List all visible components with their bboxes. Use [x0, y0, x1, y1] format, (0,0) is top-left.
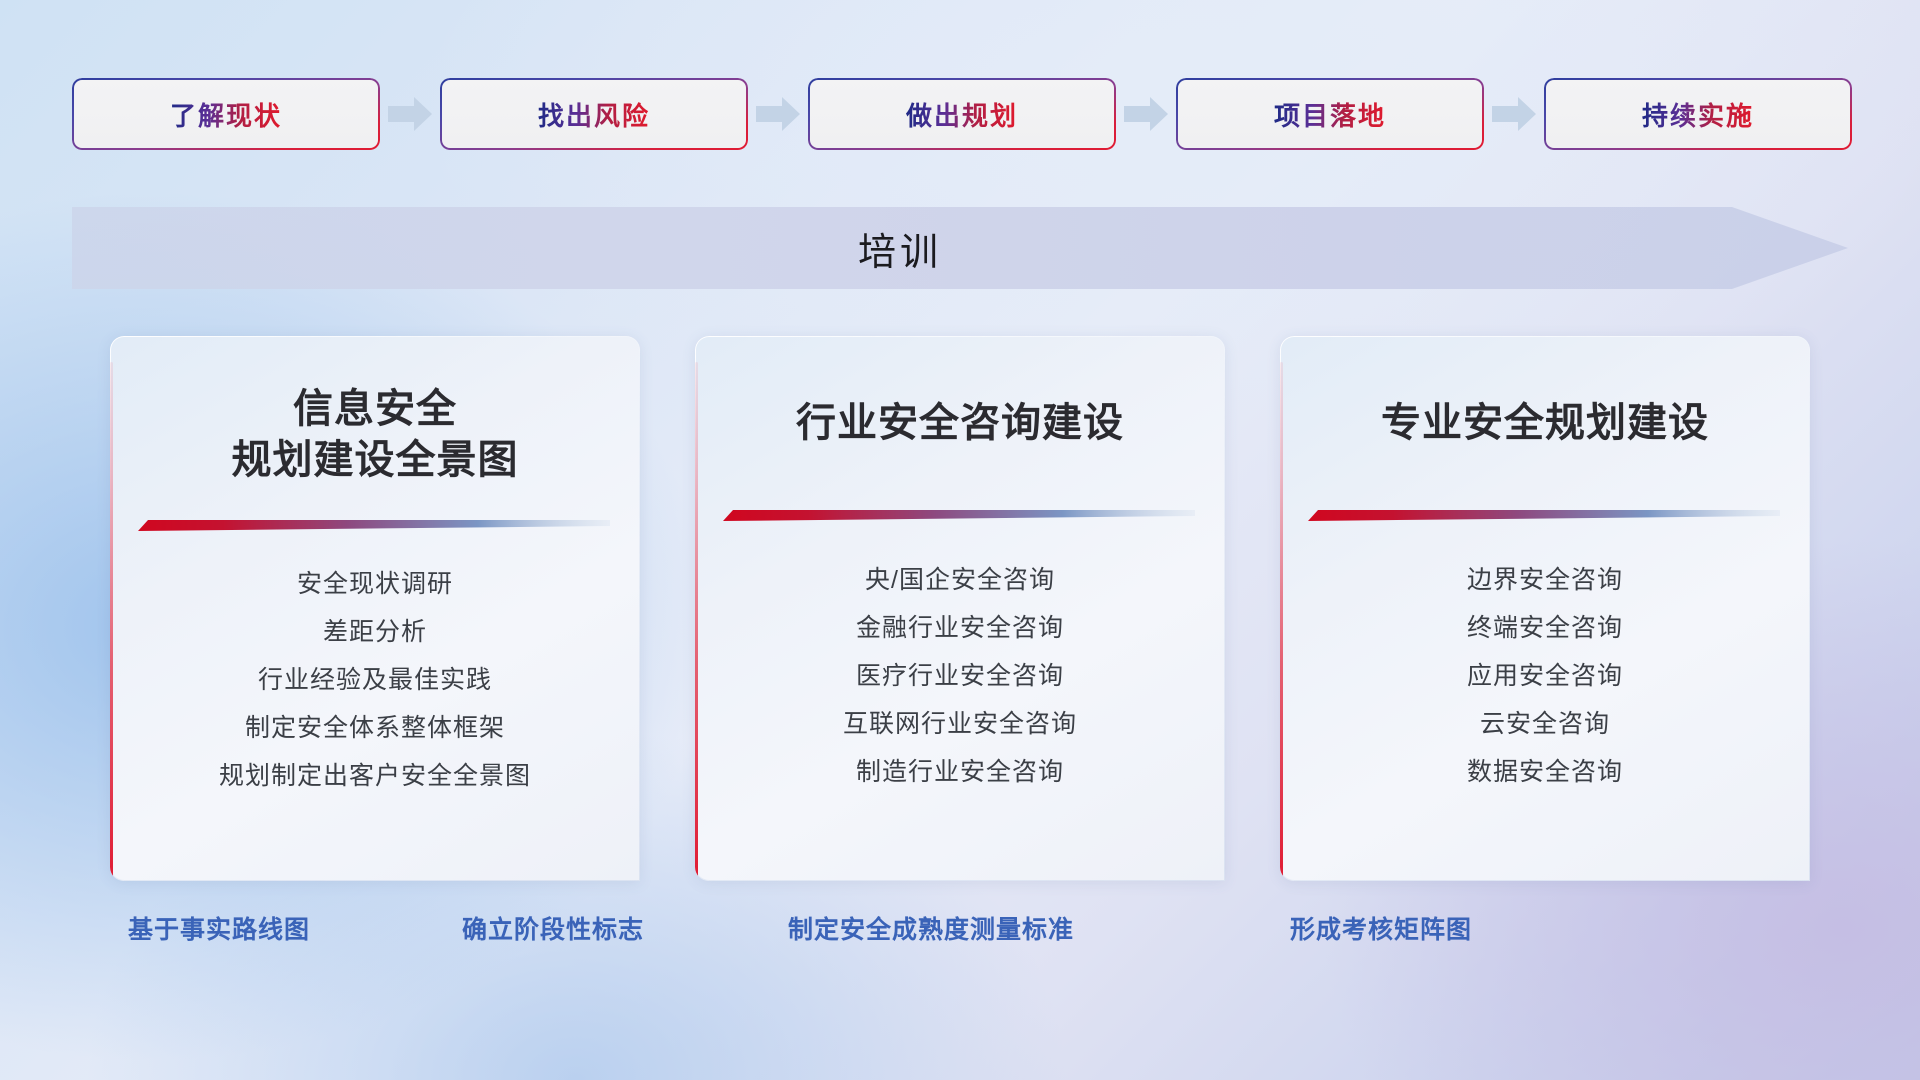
- arrow-right-icon: [380, 94, 440, 134]
- process-step-label: 找出风险: [538, 96, 650, 133]
- process-step-4[interactable]: 项目落地: [1176, 78, 1484, 150]
- process-step-2[interactable]: 找出风险: [440, 78, 748, 150]
- arrow-right-icon: [1116, 94, 1176, 134]
- footer-label-2: 确立阶段性标志: [462, 910, 644, 946]
- footer-label-4: 形成考核矩阵图: [1290, 910, 1472, 946]
- card-list-item[interactable]: 数据安全咨询: [1280, 760, 1810, 785]
- card-list-item[interactable]: 央/国企安全咨询: [695, 568, 1225, 593]
- process-step-3[interactable]: 做出规划: [808, 78, 1116, 150]
- card-list-item[interactable]: 制造行业安全咨询: [695, 760, 1225, 785]
- banner-title: 培训: [72, 207, 1728, 289]
- process-step-label: 做出规划: [906, 96, 1018, 133]
- service-card-1[interactable]: 信息安全 规划建设全景图安全现状调研差距分析行业经验及最佳实践制定安全体系整体框…: [110, 336, 640, 881]
- card-list-item[interactable]: 安全现状调研: [110, 572, 640, 597]
- card-list-item[interactable]: 规划制定出客户安全全景图: [110, 764, 640, 789]
- card-title: 信息安全 规划建设全景图: [110, 384, 640, 486]
- process-step-label: 了解现状: [170, 96, 282, 133]
- service-card-2[interactable]: 行业安全咨询建设央/国企安全咨询金融行业安全咨询医疗行业安全咨询互联网行业安全咨…: [695, 336, 1225, 881]
- card-divider: [138, 518, 610, 529]
- process-step-1[interactable]: 了解现状: [72, 78, 380, 150]
- arrow-right-icon: [748, 94, 808, 134]
- arrow-right-icon: [1484, 94, 1544, 134]
- card-title: 行业安全咨询建设: [695, 398, 1225, 449]
- card-item-list: 安全现状调研差距分析行业经验及最佳实践制定安全体系整体框架规划制定出客户安全全景…: [110, 572, 640, 812]
- card-divider: [723, 508, 1195, 519]
- card-list-item[interactable]: 行业经验及最佳实践: [110, 668, 640, 693]
- slide-canvas: 了解现状找出风险做出规划项目落地持续实施 培训 信息安全 规划建设全景图安全现状…: [0, 0, 1920, 1080]
- card-divider: [1308, 508, 1780, 519]
- footer-label-row: 基于事实路线图确立阶段性标志制定安全成熟度测量标准形成考核矩阵图: [0, 910, 1920, 960]
- card-item-list: 央/国企安全咨询金融行业安全咨询医疗行业安全咨询互联网行业安全咨询制造行业安全咨…: [695, 568, 1225, 808]
- card-list-item[interactable]: 差距分析: [110, 620, 640, 645]
- card-list-item[interactable]: 金融行业安全咨询: [695, 616, 1225, 641]
- training-banner: 培训: [72, 207, 1848, 289]
- card-title: 专业安全规划建设: [1280, 398, 1810, 449]
- service-card-3[interactable]: 专业安全规划建设边界安全咨询终端安全咨询应用安全咨询云安全咨询数据安全咨询: [1280, 336, 1810, 881]
- process-step-label: 持续实施: [1642, 96, 1754, 133]
- process-step-row: 了解现状找出风险做出规划项目落地持续实施: [72, 78, 1848, 150]
- card-list-item[interactable]: 应用安全咨询: [1280, 664, 1810, 689]
- card-list-item[interactable]: 互联网行业安全咨询: [695, 712, 1225, 737]
- card-list-item[interactable]: 边界安全咨询: [1280, 568, 1810, 593]
- footer-label-1: 基于事实路线图: [128, 910, 310, 946]
- process-step-label: 项目落地: [1274, 96, 1386, 133]
- footer-label-3: 制定安全成熟度测量标准: [788, 910, 1074, 946]
- card-item-list: 边界安全咨询终端安全咨询应用安全咨询云安全咨询数据安全咨询: [1280, 568, 1810, 808]
- card-list-item[interactable]: 制定安全体系整体框架: [110, 716, 640, 741]
- process-step-5[interactable]: 持续实施: [1544, 78, 1852, 150]
- card-list-item[interactable]: 医疗行业安全咨询: [695, 664, 1225, 689]
- card-list-item[interactable]: 终端安全咨询: [1280, 616, 1810, 641]
- card-row: 信息安全 规划建设全景图安全现状调研差距分析行业经验及最佳实践制定安全体系整体框…: [110, 336, 1810, 881]
- card-list-item[interactable]: 云安全咨询: [1280, 712, 1810, 737]
